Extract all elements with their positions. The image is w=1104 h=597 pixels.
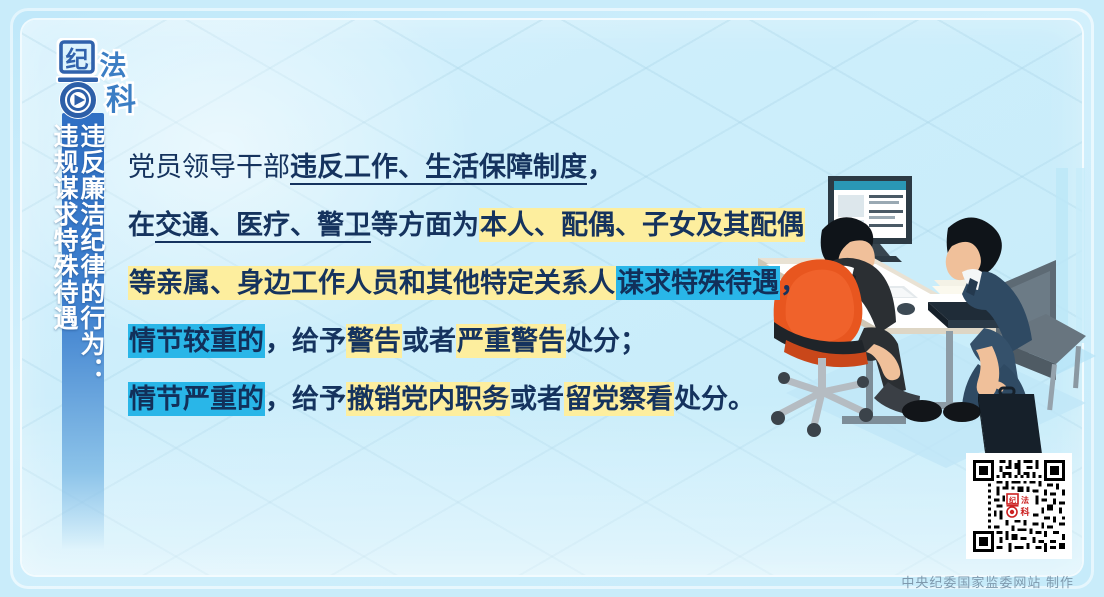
text-line-3: 等亲属、身边工作人员和其他特定关系人谋求特殊待遇， xyxy=(128,254,828,312)
main-text-block: 党员领导干部违反工作、生活保障制度， 在交通、医疗、警卫等方面为本人、配偶、子女… xyxy=(128,138,828,428)
text-line-5: 情节严重的，给予撤销党内职务或者留党察看处分。 xyxy=(128,370,828,428)
line3-highlight-yellow: 等亲属、身边工作人员和其他特定关系人 xyxy=(128,266,616,300)
svg-text:纪: 纪 xyxy=(1009,496,1016,505)
line2-highlight-yellow: 本人、配偶、子女及其配偶 xyxy=(479,208,805,242)
line2-plain-2: 等方面为 xyxy=(371,210,479,240)
line5-highlight-yellow-1: 撤销党内职务 xyxy=(346,382,510,416)
footer-credit: 中央纪委国家监委网站 制作 xyxy=(901,572,1074,591)
line4-plain-3: 处分； xyxy=(566,326,647,356)
line1-underlined: 违反工作、生活保障制度 xyxy=(290,152,587,185)
mouse xyxy=(897,303,915,315)
jifa-baike-logo: 纪 法 法 科 科 xyxy=(55,38,147,120)
line2-underlined: 交通、医疗、警卫 xyxy=(155,210,371,243)
qr-code[interactable]: 纪 法 科 xyxy=(966,453,1072,559)
text-line-2: 在交通、医疗、警卫等方面为本人、配偶、子女及其配偶 xyxy=(128,196,828,254)
line5-highlight-cyan: 情节严重的 xyxy=(128,382,265,416)
line4-plain-2: 或者 xyxy=(402,326,456,356)
svg-text:法: 法 xyxy=(1021,495,1029,505)
line3-plain-1: ， xyxy=(780,268,807,298)
line4-highlight-cyan: 情节较重的 xyxy=(128,324,265,358)
banner-text: 违反廉洁纪律的行为： 违规谋求特殊待遇 xyxy=(62,123,104,383)
line5-plain-2: 或者 xyxy=(510,384,564,414)
line1-plain-2: ， xyxy=(587,152,614,182)
svg-text:科: 科 xyxy=(1020,506,1029,517)
line5-plain-3: 处分。 xyxy=(674,384,755,414)
shoe xyxy=(943,402,981,422)
line2-plain-1: 在 xyxy=(128,210,155,240)
qr-center-logo: 纪 法 科 xyxy=(1005,492,1033,520)
line5-highlight-yellow-2: 留党察看 xyxy=(564,382,674,416)
shoe xyxy=(902,400,942,422)
vertical-banner: 违反廉洁纪律的行为： 违规谋求特殊待遇 xyxy=(62,113,104,550)
line1-plain-1: 党员领导干部 xyxy=(128,152,290,182)
logo-char-ji: 纪 xyxy=(66,46,89,72)
text-line-1: 党员领导干部违反工作、生活保障制度， xyxy=(128,138,828,196)
logo-char-fa: 法 xyxy=(100,51,127,81)
line4-highlight-yellow-1: 警告 xyxy=(346,324,402,358)
line4-plain-1: ，给予 xyxy=(265,326,346,356)
line4-highlight-yellow-2: 严重警告 xyxy=(456,324,566,358)
logo-char-ke: 科 xyxy=(106,84,136,117)
poster-root: 纪 法 法 科 科 违反廉洁纪律的行为： 违规谋求特殊待遇 党员领导干部违反工作… xyxy=(0,0,1104,597)
line5-plain-1: ，给予 xyxy=(265,384,346,414)
line3-highlight-cyan: 谋求特殊待遇 xyxy=(616,266,780,300)
text-line-4: 情节较重的，给予警告或者严重警告处分； xyxy=(128,312,828,370)
